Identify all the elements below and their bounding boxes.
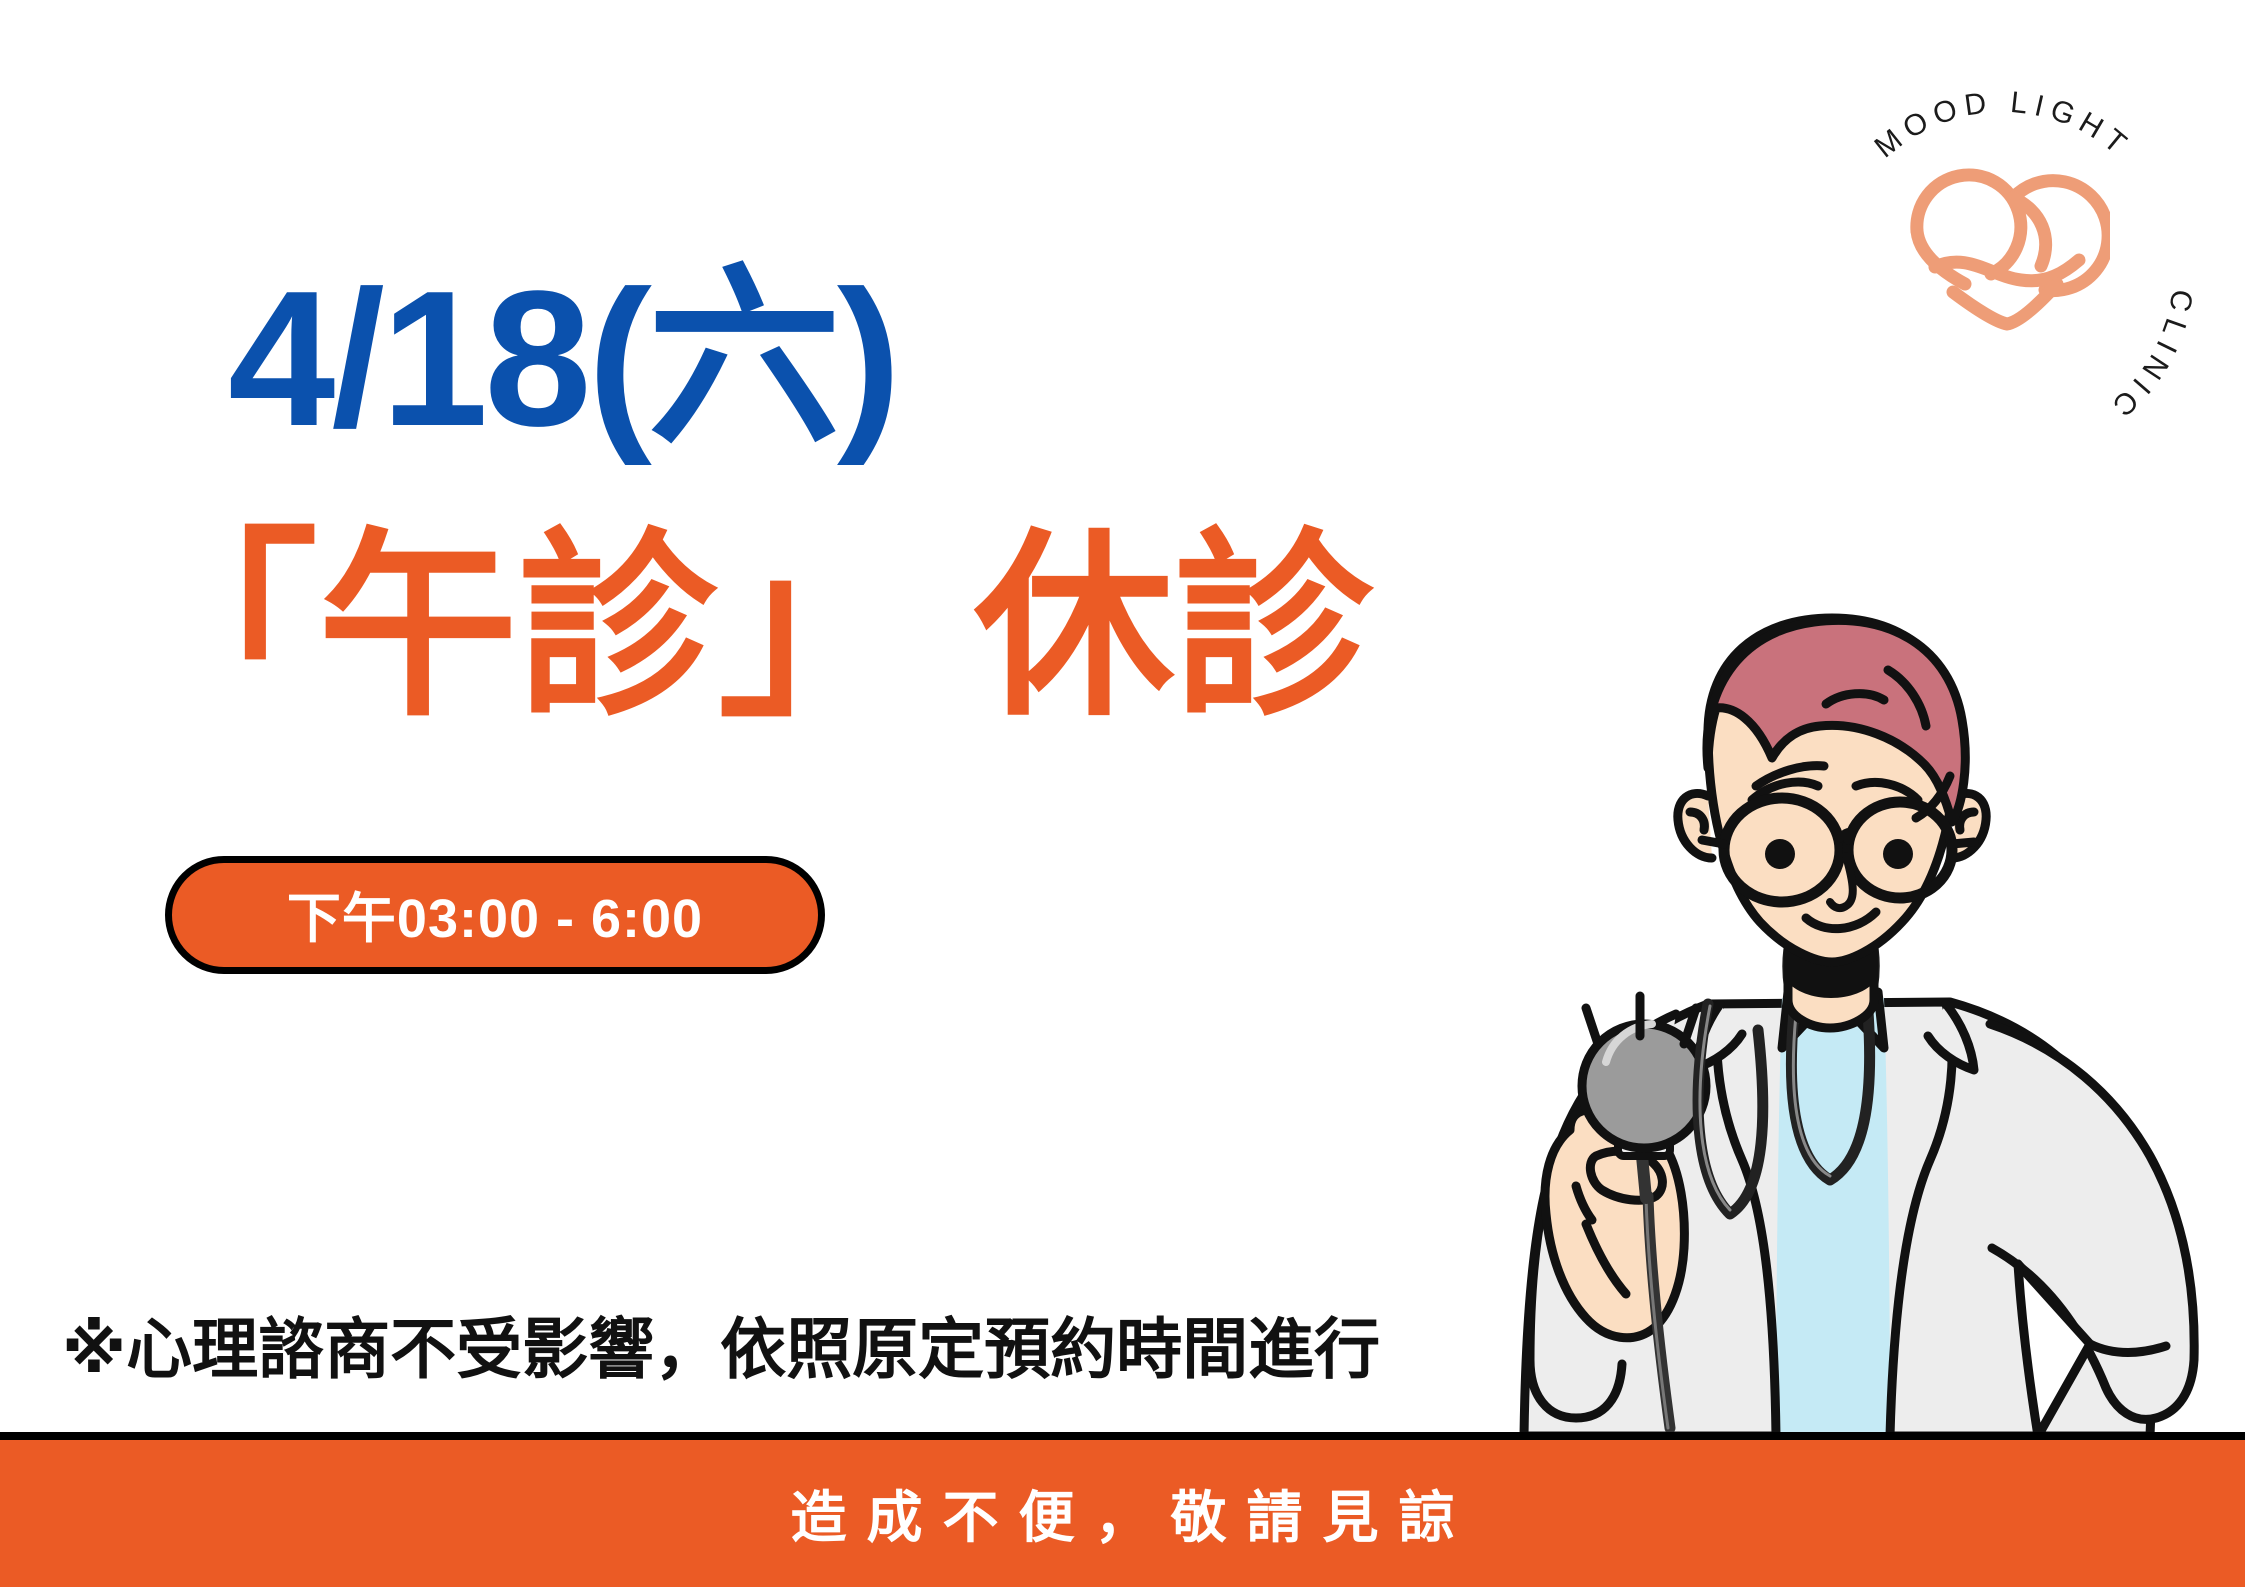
- eye-left: [1765, 839, 1795, 869]
- apology-banner-text: 造成不便，敬請見諒: [771, 1473, 1475, 1554]
- closure-subject: 「午診」: [118, 516, 918, 739]
- counselling-note: ※心理諮商不受影響，依照原定預約時間進行: [62, 1296, 1380, 1392]
- closure-action: 休診: [974, 516, 1374, 739]
- glasses-temple-right: [1952, 842, 1974, 844]
- closed-hours-badge: 下午03:00 - 6:00: [165, 856, 825, 974]
- glasses-bridge: [1840, 832, 1851, 840]
- clinic-logo: MOOD LIGHT CLINIC: [1795, 42, 2205, 432]
- logo-bottom-arc-label: CLINIC: [2101, 287, 2199, 427]
- doctor-illustration-svg: [1390, 600, 2245, 1440]
- glasses-temple-left: [1702, 840, 1724, 844]
- heart-wave-moon-icon: [1895, 134, 2110, 334]
- closure-date: 4/18(六): [228, 262, 897, 455]
- closure-headline: 「午診」休診: [118, 528, 1374, 728]
- motion-line-1: [1586, 1008, 1598, 1044]
- eye-right: [1883, 839, 1913, 869]
- closed-hours-label: 下午03:00 - 6:00: [287, 874, 703, 953]
- closure-notice-poster: MOOD LIGHT CLINIC 4/18(六: [0, 0, 2245, 1587]
- chest-piece-stem: [1642, 1156, 1646, 1198]
- doctor-with-stethoscope-illustration: [1390, 600, 2245, 1440]
- apology-banner: 造成不便，敬請見諒: [0, 1432, 2245, 1587]
